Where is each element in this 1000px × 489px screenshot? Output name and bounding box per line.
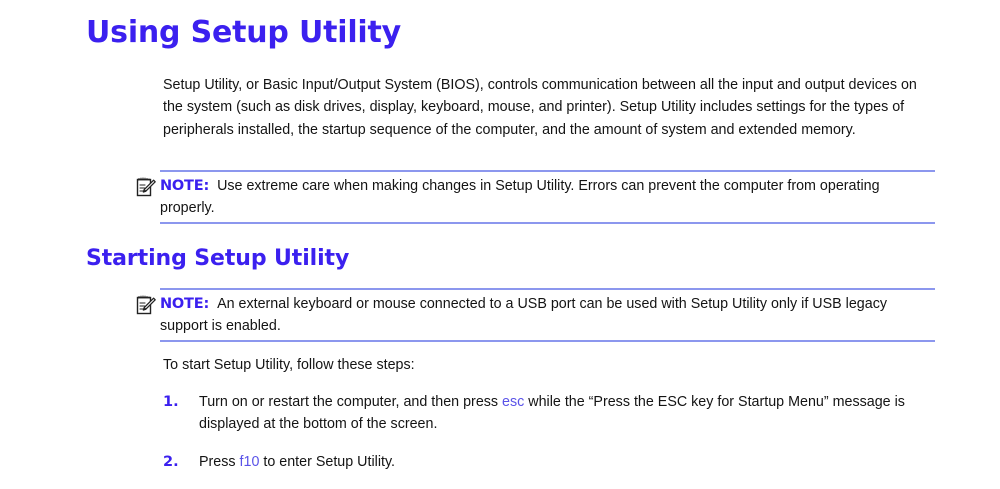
- step-text-before-key: Press: [199, 454, 240, 470]
- key-esc: esc: [502, 394, 524, 410]
- step-text-before-key: Turn on or restart the computer, and the…: [199, 394, 502, 410]
- step-number: 2.: [163, 451, 189, 473]
- steps-intro-text: To start Setup Utility, follow these ste…: [163, 354, 935, 376]
- key-f10: f10: [240, 454, 260, 470]
- step-text-after-key: to enter Setup Utility.: [259, 454, 395, 470]
- notepad-pencil-icon: [134, 175, 158, 199]
- step-text: Press f10 to enter Setup Utility.: [199, 451, 935, 473]
- document-page: Using Setup Utility Setup Utility, or Ba…: [0, 0, 1000, 489]
- note-body: NOTE:Use extreme care when making change…: [134, 170, 935, 224]
- step-text: Turn on or restart the computer, and the…: [199, 391, 935, 436]
- note-block-usb-legacy: NOTE:An external keyboard or mouse conne…: [134, 288, 935, 342]
- step-number: 1.: [163, 391, 189, 413]
- note-block-setup-care: NOTE:Use extreme care when making change…: [134, 170, 935, 224]
- list-item: 1. Turn on or restart the computer, and …: [163, 391, 935, 436]
- section-heading-starting-setup-utility: Starting Setup Utility: [86, 246, 349, 272]
- note-label: NOTE:: [160, 296, 209, 312]
- intro-paragraph: Setup Utility, or Basic Input/Output Sys…: [163, 74, 935, 141]
- list-item: 2. Press f10 to enter Setup Utility.: [163, 451, 935, 473]
- note-label: NOTE:: [160, 178, 209, 194]
- page-title: Using Setup Utility: [86, 16, 401, 50]
- notepad-pencil-icon: [134, 293, 158, 317]
- note-bottom-rule: [160, 340, 935, 342]
- note-text: An external keyboard or mouse connected …: [160, 296, 887, 334]
- note-text: Use extreme care when making changes in …: [160, 178, 880, 216]
- note-bottom-rule: [160, 222, 935, 224]
- note-body: NOTE:An external keyboard or mouse conne…: [134, 288, 935, 342]
